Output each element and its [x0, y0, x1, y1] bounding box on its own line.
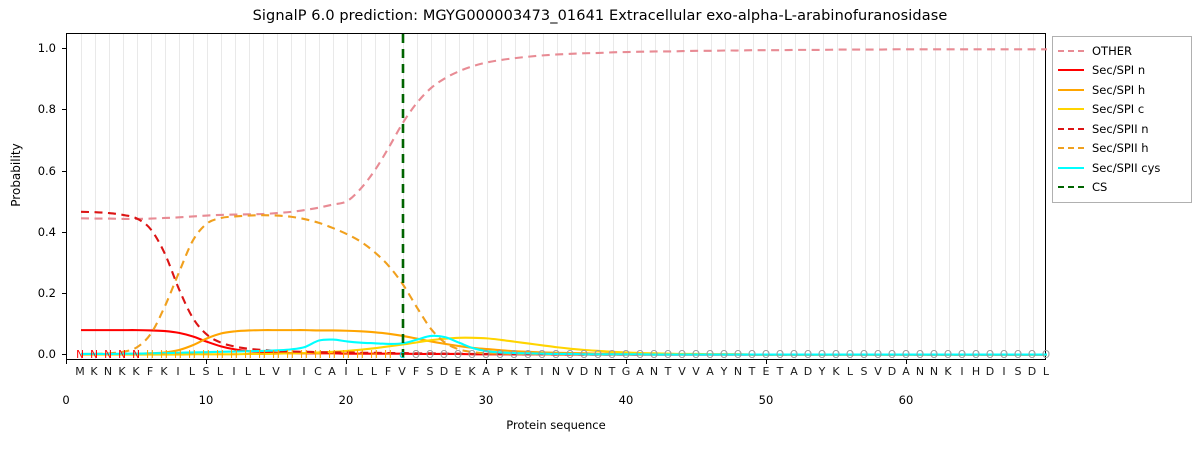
- region-annotation: H: [342, 349, 350, 362]
- sequence-residue: A: [636, 364, 644, 380]
- sequence-residue: L: [1043, 364, 1049, 380]
- legend-swatch-icon: [1058, 147, 1084, 149]
- legend-item[interactable]: Sec/SPII n: [1058, 119, 1186, 139]
- region-annotation: O: [608, 349, 616, 362]
- region-annotation: O: [832, 349, 840, 362]
- y-axis-tick-label: 0.4: [38, 225, 56, 239]
- region-annotation: O: [804, 349, 812, 362]
- sequence-residue: A: [902, 364, 910, 380]
- x-axis-tick-label: 60: [899, 393, 914, 407]
- sequence-residue: I: [540, 364, 543, 380]
- legend-item[interactable]: Sec/SPI c: [1058, 100, 1186, 120]
- region-annotation: O: [958, 349, 966, 362]
- region-annotation: O: [762, 349, 770, 362]
- legend-swatch-icon: [1058, 89, 1084, 91]
- legend-item[interactable]: OTHER: [1058, 41, 1186, 61]
- signalp-prediction-figure: SignalP 6.0 prediction: MGYG000003473_01…: [0, 0, 1200, 450]
- region-annotation: O: [496, 349, 504, 362]
- sequence-residue: N: [650, 364, 658, 380]
- region-annotation: O: [594, 349, 602, 362]
- region-annotation: H: [300, 349, 308, 362]
- region-annotation: O: [1042, 349, 1050, 362]
- sequence-residue: D: [804, 364, 812, 380]
- sequence-residue: N: [916, 364, 924, 380]
- legend: OTHERSec/SPI nSec/SPI hSec/SPI cSec/SPII…: [1052, 36, 1192, 203]
- region-annotation: O: [622, 349, 630, 362]
- sequence-residue: Y: [819, 364, 826, 380]
- sequence-residue: M: [75, 364, 85, 380]
- legend-label: Sec/SPII n: [1092, 122, 1149, 136]
- region-annotation: H: [258, 349, 266, 362]
- sequence-residue: H: [972, 364, 980, 380]
- x-axis-tick-label: 10: [199, 393, 214, 407]
- sequence-residue: T: [749, 364, 756, 380]
- region-annotation: O: [664, 349, 672, 362]
- sequence-residue: D: [440, 364, 448, 380]
- sequence-residue: V: [874, 364, 882, 380]
- legend-label: Sec/SPI h: [1092, 83, 1145, 97]
- region-annotation: H: [188, 349, 196, 362]
- curve-sec-spii-h: [81, 215, 1047, 354]
- sequence-residue: L: [847, 364, 853, 380]
- sequence-residue: D: [580, 364, 588, 380]
- sequence-residue: K: [944, 364, 951, 380]
- region-annotation: H: [370, 349, 378, 362]
- region-annotation: N: [132, 349, 140, 362]
- sequence-residue: N: [552, 364, 560, 380]
- sequence-residue: S: [203, 364, 210, 380]
- region-annotation: N: [118, 349, 126, 362]
- page-title: SignalP 6.0 prediction: MGYG000003473_01…: [0, 8, 1200, 24]
- sequence-residue: L: [189, 364, 195, 380]
- sequence-residue: K: [510, 364, 517, 380]
- region-annotation: H: [328, 349, 336, 362]
- sequence-residue: D: [888, 364, 896, 380]
- legend-item[interactable]: Sec/SPII cys: [1058, 158, 1186, 178]
- region-annotation-row: NNNNNHHHHHHHHHHHHHHHHHHcOOOOOOOOOOOOOOOO…: [66, 349, 1046, 362]
- legend-swatch-icon: [1058, 69, 1084, 71]
- region-annotation: H: [202, 349, 210, 362]
- sequence-residue: D: [986, 364, 994, 380]
- legend-label: Sec/SPI c: [1092, 102, 1144, 116]
- region-annotation: O: [426, 349, 434, 362]
- region-annotation: H: [160, 349, 168, 362]
- sequence-residue: N: [104, 364, 112, 380]
- region-annotation: O: [510, 349, 518, 362]
- region-annotation: O: [580, 349, 588, 362]
- region-annotation: H: [244, 349, 252, 362]
- y-axis-tick-label: 0.0: [38, 347, 56, 361]
- region-annotation: O: [1000, 349, 1008, 362]
- region-annotation: O: [482, 349, 490, 362]
- sequence-residue: K: [132, 364, 139, 380]
- sequence-residue: C: [314, 364, 322, 380]
- legend-swatch-icon: [1058, 167, 1084, 169]
- region-annotation: O: [468, 349, 476, 362]
- region-annotation: N: [104, 349, 112, 362]
- y-axis-tick-label: 0.2: [38, 286, 56, 300]
- sequence-residue: A: [706, 364, 714, 380]
- sequence-residue: G: [622, 364, 631, 380]
- y-axis-label: Probability: [9, 75, 23, 275]
- region-annotation: O: [944, 349, 952, 362]
- sequence-residue: L: [357, 364, 363, 380]
- legend-item[interactable]: Sec/SPI h: [1058, 80, 1186, 100]
- sequence-residue: S: [1015, 364, 1022, 380]
- region-annotation: O: [692, 349, 700, 362]
- region-annotation: H: [384, 349, 392, 362]
- y-axis-tick-label: 0.8: [38, 102, 56, 116]
- region-annotation: O: [930, 349, 938, 362]
- sequence-residue: V: [272, 364, 280, 380]
- sequence-residue: V: [678, 364, 686, 380]
- legend-label: OTHER: [1092, 44, 1132, 58]
- region-annotation: O: [846, 349, 854, 362]
- region-annotation: O: [972, 349, 980, 362]
- legend-label: Sec/SPII h: [1092, 141, 1149, 155]
- x-axis-tick-label: 50: [759, 393, 774, 407]
- curves-layer: [67, 34, 1047, 361]
- sequence-residue: A: [328, 364, 336, 380]
- legend-swatch-icon: [1058, 186, 1084, 188]
- sequence-residue: S: [427, 364, 434, 380]
- legend-label: Sec/SPI n: [1092, 63, 1145, 77]
- x-axis-tick-label: 20: [339, 393, 354, 407]
- sequence-residue: T: [777, 364, 784, 380]
- sequence-residue: I: [1002, 364, 1005, 380]
- sequence-residue: N: [930, 364, 938, 380]
- sequence-residue: V: [692, 364, 700, 380]
- x-axis-tick-label: 0: [62, 393, 69, 407]
- region-annotation: H: [356, 349, 364, 362]
- region-annotation: H: [230, 349, 238, 362]
- legend-swatch-icon: [1058, 128, 1084, 130]
- region-annotation: c: [399, 349, 405, 362]
- region-annotation: O: [790, 349, 798, 362]
- sequence-residue: F: [385, 364, 391, 380]
- region-annotation: N: [90, 349, 98, 362]
- region-annotation: O: [636, 349, 644, 362]
- region-annotation: O: [860, 349, 868, 362]
- region-annotation: H: [286, 349, 294, 362]
- sequence-residue: A: [790, 364, 798, 380]
- region-annotation: H: [146, 349, 154, 362]
- sequence-residue: E: [455, 364, 462, 380]
- plot-area: [66, 33, 1046, 360]
- region-annotation: H: [216, 349, 224, 362]
- region-annotation: O: [734, 349, 742, 362]
- sequence-residue: L: [371, 364, 377, 380]
- sequence-residue: K: [832, 364, 839, 380]
- x-axis-tick-label: 30: [479, 393, 494, 407]
- region-annotation: O: [650, 349, 658, 362]
- y-axis-tick-label: 1.0: [38, 41, 56, 55]
- sequence-residue: I: [232, 364, 235, 380]
- sequence-residue: I: [302, 364, 305, 380]
- sequence-residue: Y: [721, 364, 728, 380]
- legend-label: CS: [1092, 180, 1107, 194]
- protein-sequence-row: MKNKKFKILSLILLVIICAILLFVFSDEKAPKTINVDNTG…: [66, 364, 1046, 380]
- region-annotation: H: [174, 349, 182, 362]
- legend-swatch-icon: [1058, 50, 1084, 52]
- sequence-residue: V: [566, 364, 574, 380]
- region-annotation: O: [412, 349, 420, 362]
- sequence-residue: K: [90, 364, 97, 380]
- sequence-residue: T: [525, 364, 532, 380]
- sequence-residue: L: [245, 364, 251, 380]
- curve-other: [81, 49, 1047, 219]
- region-annotation: O: [888, 349, 896, 362]
- legend-item[interactable]: CS: [1058, 178, 1186, 198]
- sequence-residue: F: [413, 364, 419, 380]
- sequence-residue: E: [763, 364, 770, 380]
- region-annotation: O: [902, 349, 910, 362]
- region-annotation: O: [524, 349, 532, 362]
- x-axis-label: Protein sequence: [66, 418, 1046, 432]
- sequence-residue: D: [1028, 364, 1036, 380]
- sequence-residue: F: [147, 364, 153, 380]
- sequence-residue: L: [259, 364, 265, 380]
- region-annotation: O: [566, 349, 574, 362]
- y-axis: Probability 0.00.20.40.60.81.0: [0, 33, 66, 360]
- region-annotation: O: [678, 349, 686, 362]
- legend-item[interactable]: Sec/SPI n: [1058, 61, 1186, 81]
- region-annotation: O: [538, 349, 546, 362]
- sequence-residue: S: [861, 364, 868, 380]
- sequence-residue: L: [217, 364, 223, 380]
- sequence-residue: N: [594, 364, 602, 380]
- region-annotation: O: [776, 349, 784, 362]
- region-annotation: O: [818, 349, 826, 362]
- sequence-residue: A: [482, 364, 490, 380]
- region-annotation: O: [720, 349, 728, 362]
- sequence-residue: K: [468, 364, 475, 380]
- legend-item[interactable]: Sec/SPII h: [1058, 139, 1186, 159]
- region-annotation: O: [454, 349, 462, 362]
- sequence-residue: I: [176, 364, 179, 380]
- region-annotation: H: [314, 349, 322, 362]
- region-annotation: O: [916, 349, 924, 362]
- region-annotation: O: [1028, 349, 1036, 362]
- sequence-residue: I: [288, 364, 291, 380]
- region-annotation: O: [986, 349, 994, 362]
- sequence-residue: P: [497, 364, 504, 380]
- y-axis-tick-label: 0.6: [38, 164, 56, 178]
- sequence-residue: I: [960, 364, 963, 380]
- region-annotation: O: [874, 349, 882, 362]
- sequence-residue: T: [609, 364, 616, 380]
- region-annotation: O: [552, 349, 560, 362]
- region-annotation: H: [272, 349, 280, 362]
- x-axis-tick-label: 40: [619, 393, 634, 407]
- sequence-residue: T: [665, 364, 672, 380]
- sequence-residue: N: [734, 364, 742, 380]
- sequence-residue: K: [160, 364, 167, 380]
- region-annotation: O: [706, 349, 714, 362]
- sequence-residue: V: [398, 364, 406, 380]
- region-annotation: O: [440, 349, 448, 362]
- sequence-residue: I: [344, 364, 347, 380]
- legend-label: Sec/SPII cys: [1092, 161, 1160, 175]
- legend-swatch-icon: [1058, 108, 1084, 110]
- sequence-residue: K: [118, 364, 125, 380]
- region-annotation: N: [76, 349, 84, 362]
- region-annotation: O: [748, 349, 756, 362]
- region-annotation: O: [1014, 349, 1022, 362]
